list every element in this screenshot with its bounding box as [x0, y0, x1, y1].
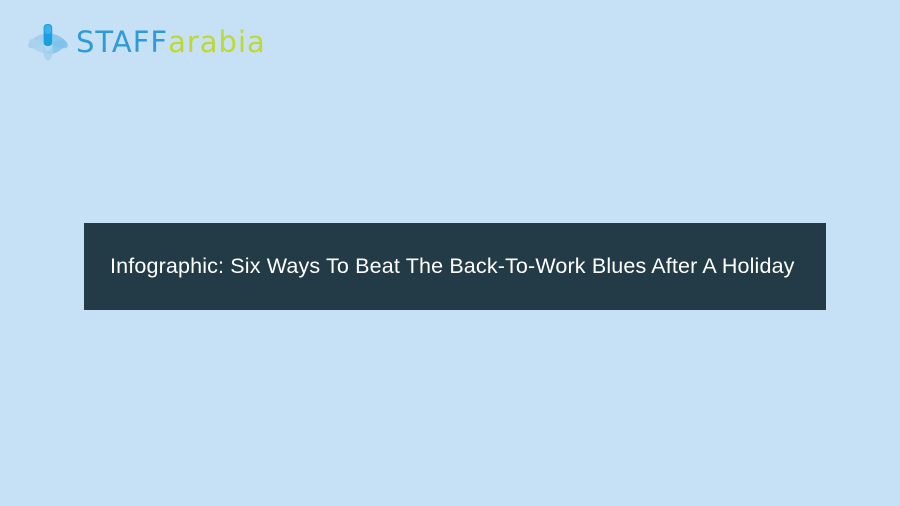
brand-wordmark: STAFFarabia	[76, 28, 266, 57]
page-canvas: STAFFarabia Infographic: Six Ways To Bea…	[0, 0, 900, 506]
page-title: Infographic: Six Ways To Beat The Back-T…	[84, 254, 795, 279]
title-banner: Infographic: Six Ways To Beat The Back-T…	[84, 223, 826, 310]
starburst-flower-logo-icon	[26, 19, 70, 63]
brand-logo[interactable]: STAFFarabia	[26, 18, 286, 64]
wordmark-staff: STAFF	[76, 28, 168, 57]
wordmark-arabia: arabia	[168, 28, 266, 57]
